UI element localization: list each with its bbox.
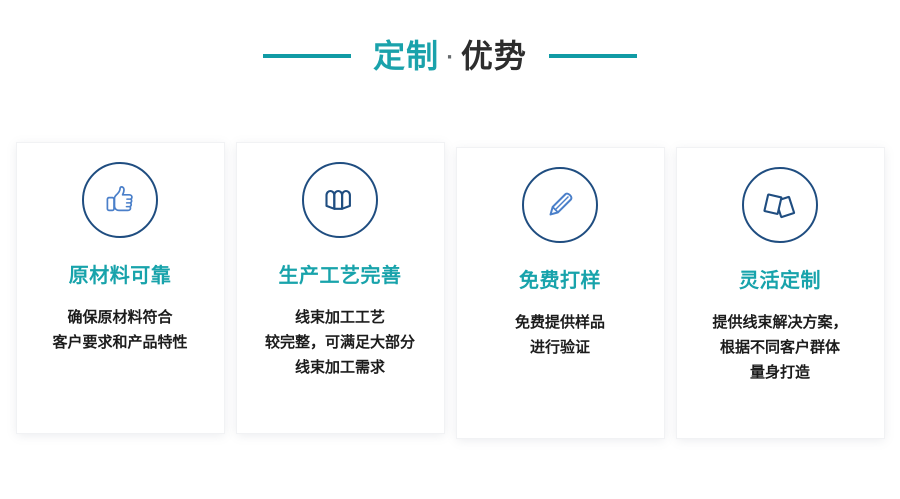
pencil-icon (540, 185, 580, 225)
card-body-line: 线束加工工艺 (245, 305, 436, 330)
card-body: 确保原材料符合 客户要求和产品特性 (17, 305, 224, 355)
page-title: 定制 · 优势 (373, 40, 527, 72)
card-body-line: 量身打造 (685, 360, 876, 385)
stacked-cards-icon (760, 185, 800, 225)
feature-card-free-sample[interactable]: 免费打样 免费提供样品 进行验证 (457, 148, 664, 438)
page-title-rest: 优势 (461, 40, 527, 72)
folded-map-icon (320, 180, 360, 220)
card-body-line: 较完整，可满足大部分 (245, 330, 436, 355)
card-title: 生产工艺完善 (279, 265, 402, 285)
card-body: 免费提供样品 进行验证 (457, 310, 664, 360)
feature-card-production-process[interactable]: 生产工艺完善 线束加工工艺 较完整，可满足大部分 线束加工需求 (237, 143, 444, 433)
card-title: 灵活定制 (739, 270, 821, 290)
card-body-line: 客户要求和产品特性 (25, 330, 216, 355)
feature-card-list: 原材料可靠 确保原材料符合 客户要求和产品特性 生产工艺完善 线束加工工艺 较完… (0, 143, 900, 438)
section-header: 定制 · 优势 (0, 0, 900, 100)
card-title: 原材料可靠 (69, 265, 172, 285)
icon-circle (522, 167, 598, 243)
card-body-line: 提供线束解决方案， (685, 310, 876, 335)
card-body-line: 线束加工需求 (245, 355, 436, 380)
card-body-line: 确保原材料符合 (25, 305, 216, 330)
card-body-line: 根据不同客户群体 (685, 335, 876, 360)
page-title-highlight: 定制 (373, 40, 439, 72)
page-title-separator: · (439, 49, 461, 67)
icon-circle (302, 162, 378, 238)
feature-card-raw-material[interactable]: 原材料可靠 确保原材料符合 客户要求和产品特性 (17, 143, 224, 433)
card-body-line: 进行验证 (465, 335, 656, 360)
icon-circle (742, 167, 818, 243)
card-body: 提供线束解决方案， 根据不同客户群体 量身打造 (677, 310, 884, 385)
feature-card-flexible-customization[interactable]: 灵活定制 提供线束解决方案， 根据不同客户群体 量身打造 (677, 148, 884, 438)
header-rule-left (263, 54, 351, 58)
icon-circle (82, 162, 158, 238)
card-title: 免费打样 (519, 270, 601, 290)
card-body: 线束加工工艺 较完整，可满足大部分 线束加工需求 (237, 305, 444, 380)
thumbs-up-icon (100, 180, 140, 220)
header-rule-right (549, 54, 637, 58)
card-body-line: 免费提供样品 (465, 310, 656, 335)
